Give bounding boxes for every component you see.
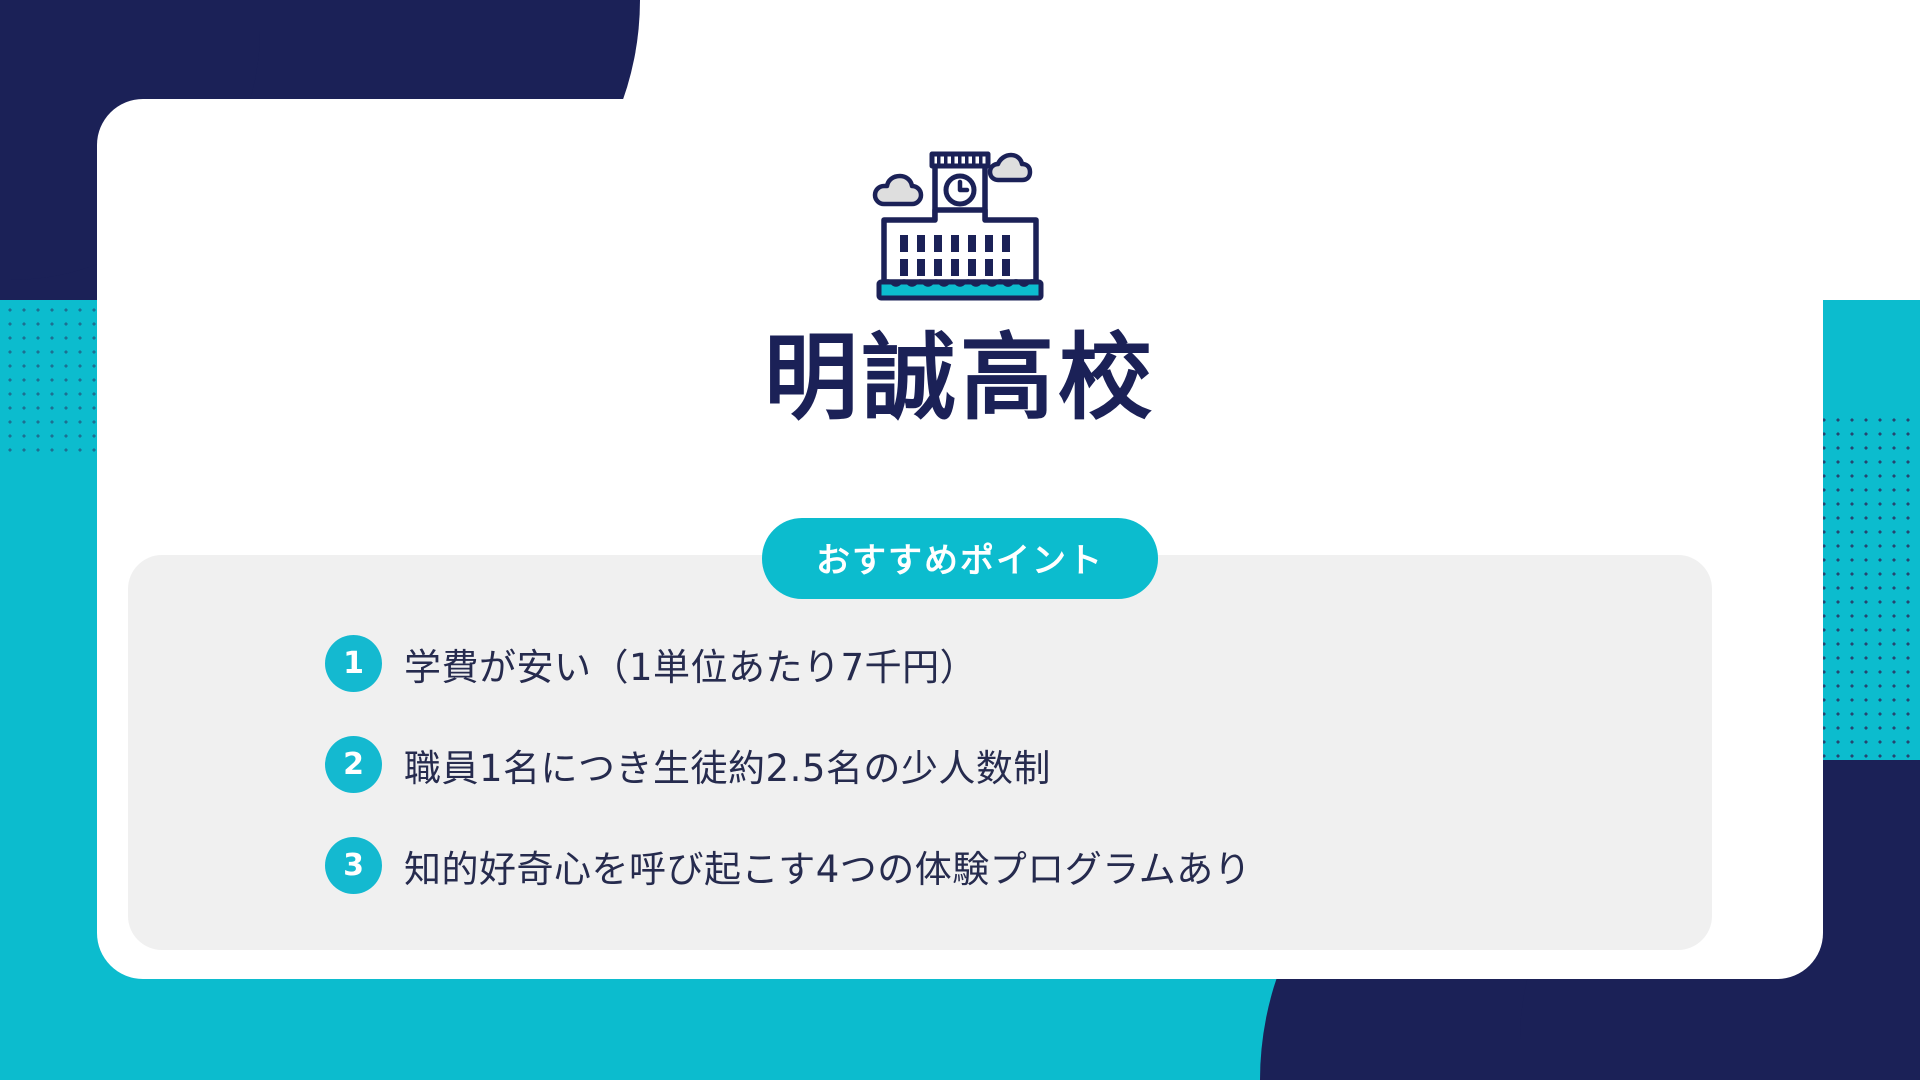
page-title: 明誠高校 xyxy=(97,327,1823,430)
list-item: 1 学費が安い（1単位あたり7千円） xyxy=(325,635,1672,692)
points-panel: 1 学費が安い（1単位あたり7千円） 2 職員1名につき生徒約2.5名の少人数制… xyxy=(128,555,1712,950)
point-text: 学費が安い（1単位あたり7千円） xyxy=(404,637,977,691)
slide-root: 明誠高校 おすすめポイント 1 学費が安い（1単位あたり7千円） 2 職員1名に… xyxy=(0,0,1920,1080)
cloud-left xyxy=(875,176,921,204)
clock-icon xyxy=(946,176,974,204)
point-number-badge: 1 xyxy=(325,635,382,692)
point-text: 知的好奇心を呼び起こす4つの体験プログラムあり xyxy=(404,839,1251,893)
point-number-badge: 3 xyxy=(325,837,382,894)
points-list: 1 学費が安い（1単位あたり7千円） 2 職員1名につき生徒約2.5名の少人数制… xyxy=(325,635,1672,894)
status-badge: おすすめポイント xyxy=(762,518,1158,599)
list-item: 3 知的好奇心を呼び起こす4つの体験プログラムあり xyxy=(325,837,1672,894)
school-building-icon xyxy=(850,137,1070,307)
point-number-badge: 2 xyxy=(325,736,382,793)
card-top-notch xyxy=(824,57,1096,141)
point-text: 職員1名につき生徒約2.5名の少人数制 xyxy=(404,738,1051,792)
list-item: 2 職員1名につき生徒約2.5名の少人数制 xyxy=(325,736,1672,793)
cloud-right xyxy=(990,155,1030,180)
main-card: 明誠高校 おすすめポイント 1 学費が安い（1単位あたり7千円） 2 職員1名に… xyxy=(97,99,1823,979)
